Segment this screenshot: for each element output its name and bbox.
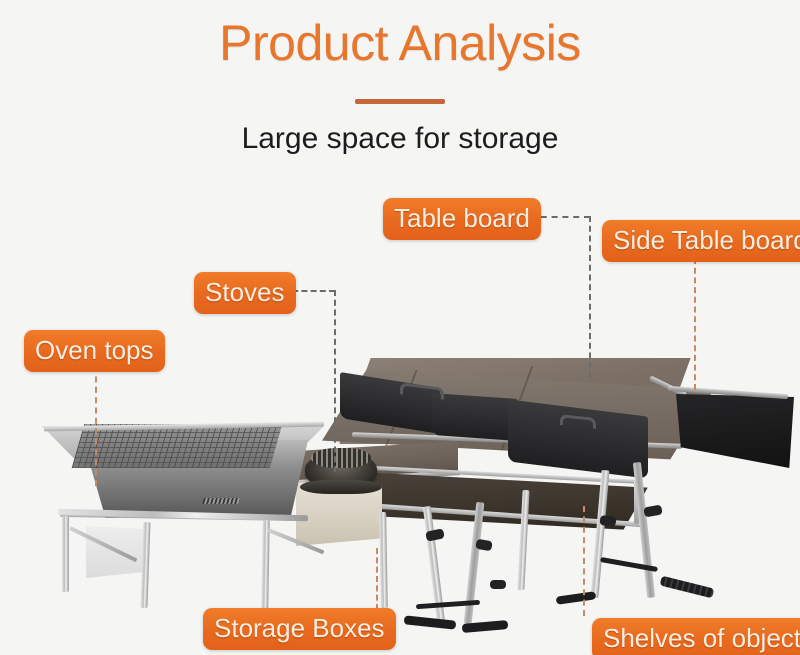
table-foot — [404, 615, 457, 629]
height-adjuster-knob — [425, 528, 445, 542]
height-adjuster-knob — [490, 580, 506, 589]
table-leg — [633, 462, 655, 598]
infographic-canvas: Product Analysis Large space for storage — [0, 0, 800, 655]
callout-storage-boxes[interactable]: Storage Boxes — [203, 608, 396, 650]
table-leg — [379, 512, 388, 608]
title-divider — [355, 99, 445, 104]
page-subtitle: Large space for storage — [0, 122, 800, 156]
callout-shelves-of-objects[interactable]: Shelves of objects — [592, 618, 800, 655]
height-adjuster-knob — [643, 505, 662, 518]
callout-stoves[interactable]: Stoves — [194, 272, 296, 314]
leader-line-table-board-v — [589, 216, 591, 378]
table-foot — [556, 591, 597, 604]
table-leg — [261, 520, 270, 612]
grill-vent — [202, 498, 240, 504]
product-photograph — [0, 330, 800, 655]
apron-center — [432, 393, 518, 441]
grill-grate — [72, 424, 283, 468]
burner-base-ring — [300, 480, 382, 494]
table-foot — [660, 576, 715, 599]
leader-line-side-table-board — [694, 258, 696, 390]
burner-head — [311, 448, 371, 468]
leader-line-shelves — [583, 506, 585, 616]
callout-table-board[interactable]: Table board — [383, 198, 541, 240]
callout-side-table-board[interactable]: Side Table board — [602, 220, 800, 262]
page-title: Product Analysis — [0, 14, 800, 72]
side-table-board — [676, 394, 794, 468]
leader-line-storage-boxes — [376, 548, 378, 610]
height-adjuster-knob — [599, 515, 616, 527]
leader-line-stoves-v — [334, 290, 336, 472]
table-leg — [62, 516, 69, 592]
leader-line-oven-tops — [95, 366, 97, 486]
callout-oven-tops[interactable]: Oven tops — [24, 330, 165, 372]
